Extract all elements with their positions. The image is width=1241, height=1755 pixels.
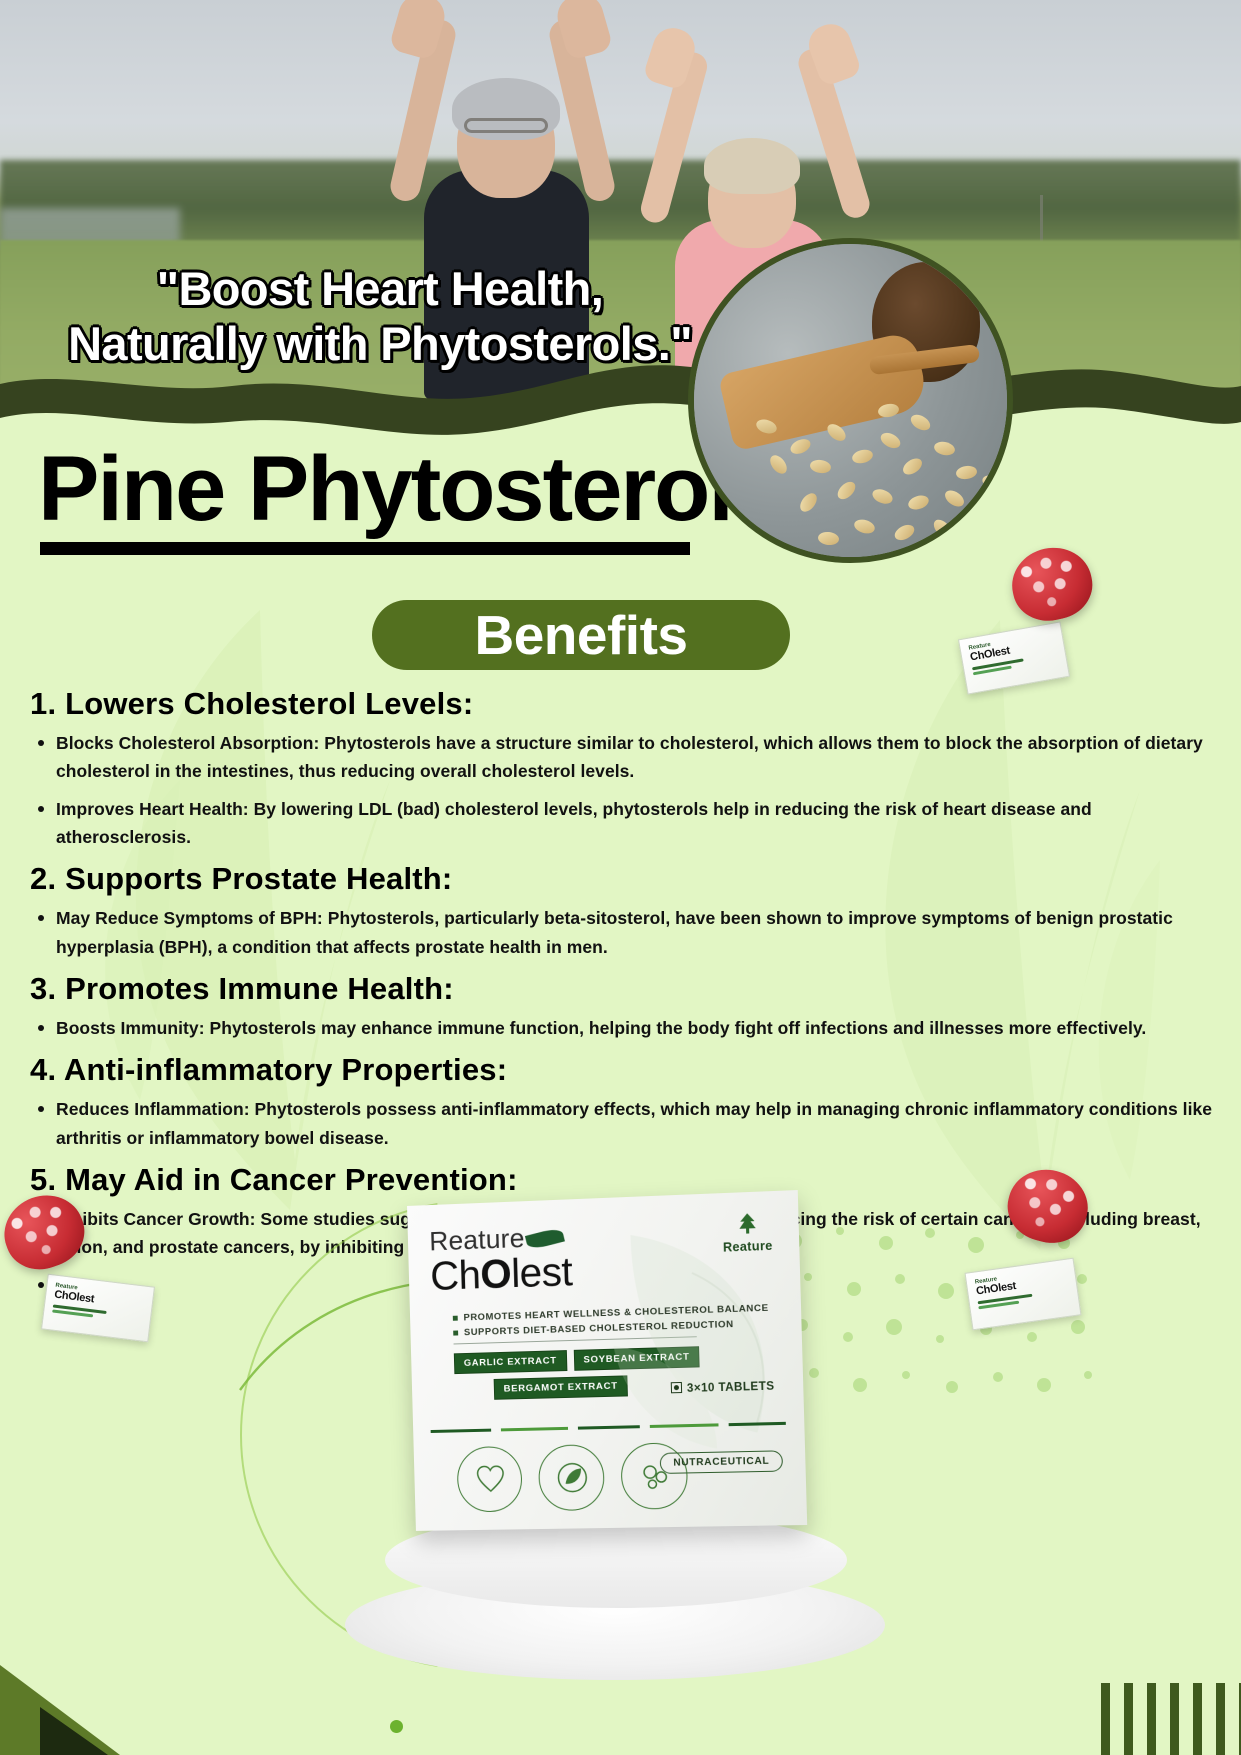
leaf-seal-icon xyxy=(538,1444,605,1511)
list-item: May Reduce Symptoms of BPH: Phytosterols… xyxy=(22,904,1219,961)
heart-seal-icon xyxy=(456,1446,522,1513)
box-leaf-watermark xyxy=(600,1219,799,1456)
benefits-badge-label: Benefits xyxy=(475,603,688,667)
section-bullets: Blocks Cholesterol Absorption: Phytoster… xyxy=(22,729,1219,851)
benefit-section-2: 2. Supports Prostate Health: May Reduce … xyxy=(22,861,1219,961)
certification-seals xyxy=(456,1442,688,1512)
quantity-label: 3×10 TABLETS xyxy=(671,1380,775,1396)
category-badge: NUTRACEUTICAL xyxy=(660,1450,783,1474)
page-title: Pine Phytosterol xyxy=(38,443,732,535)
section-bullets: May Reduce Symptoms of BPH: Phytosterols… xyxy=(22,904,1219,961)
title-underline xyxy=(40,542,690,555)
list-item: Boosts Immunity: Phytosterols may enhanc… xyxy=(22,1014,1219,1042)
section-heading: 1. Lowers Cholesterol Levels: xyxy=(30,686,1219,722)
benefits-badge: Benefits xyxy=(372,600,790,670)
section-bullets: Boosts Immunity: Phytosterols may enhanc… xyxy=(22,1014,1219,1042)
section-heading: 2. Supports Prostate Health: xyxy=(30,861,1219,897)
halo-bottom-dot xyxy=(390,1720,403,1733)
list-item: Blocks Cholesterol Absorption: Phytoster… xyxy=(22,729,1219,786)
benefit-section-1: 1. Lowers Cholesterol Levels: Blocks Cho… xyxy=(22,686,1219,851)
bullet-square-icon xyxy=(671,1382,682,1393)
headline-line-1: "Boost Heart Health, xyxy=(0,262,760,317)
section-heading: 3. Promotes Immune Health: xyxy=(30,971,1219,1007)
section-bullets: Reduces Inflammation: Phytosterols posse… xyxy=(22,1095,1219,1152)
leaf-icon xyxy=(525,1227,565,1251)
list-item: Reduces Inflammation: Phytosterols posse… xyxy=(22,1095,1219,1152)
product-box: Reature Reature ChOlest PROMOTES HEART W… xyxy=(407,1190,807,1531)
benefit-section-4: 4. Anti-inflammatory Properties: Reduces… xyxy=(22,1052,1219,1152)
ingredient-tag: GARLIC EXTRACT xyxy=(454,1350,567,1374)
section-heading: 4. Anti-inflammatory Properties: xyxy=(30,1052,1219,1088)
list-item: Improves Heart Health: By lowering LDL (… xyxy=(22,795,1219,852)
corner-triangles xyxy=(0,1625,200,1755)
pine-nuts-photo xyxy=(688,238,1013,563)
corner-stripes xyxy=(1101,1683,1241,1755)
benefit-section-3: 3. Promotes Immune Health: Boosts Immuni… xyxy=(22,971,1219,1042)
